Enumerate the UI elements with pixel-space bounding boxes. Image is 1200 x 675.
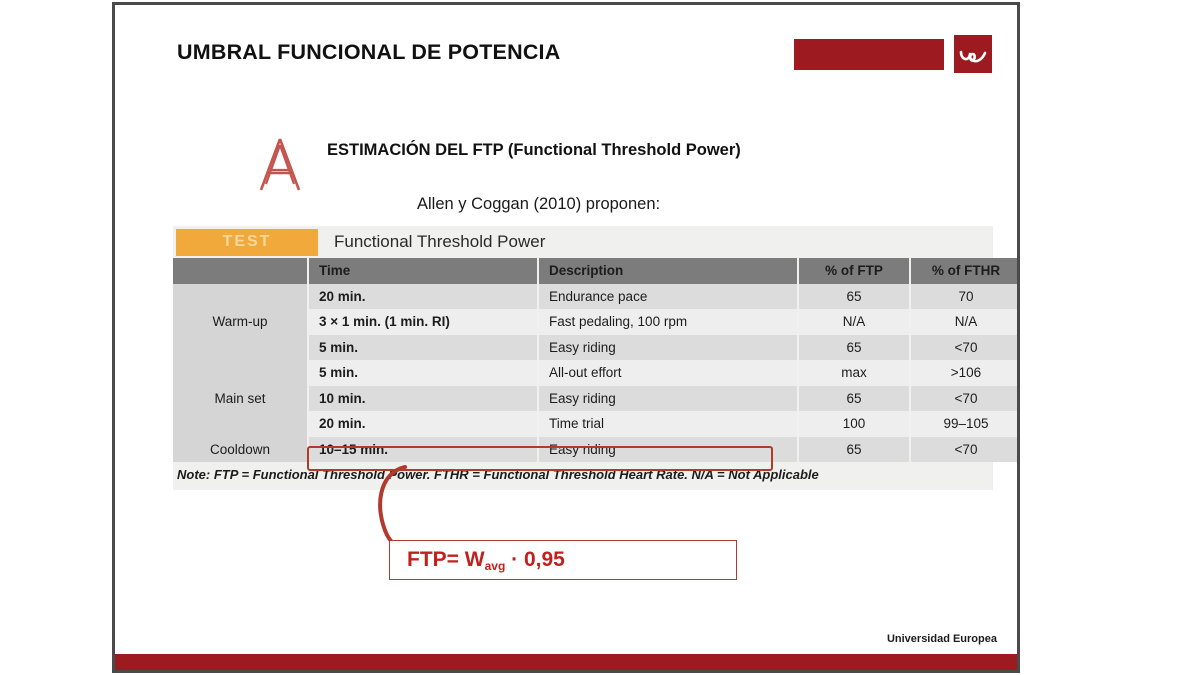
cell-pct-ftp: 100 — [798, 411, 910, 437]
cell-pct-ftp: 65 — [798, 386, 910, 412]
cell-pct-fthr: N/A — [910, 309, 1017, 335]
cell-pct-ftp: 65 — [798, 284, 910, 310]
cell-description: Easy riding — [538, 437, 798, 463]
cell-description: Time trial — [538, 411, 798, 437]
test-badge: TEST — [176, 229, 318, 256]
brand-logo — [794, 39, 992, 73]
table-row: Cooldown 10–15 min. Easy riding 65 <70 — [173, 437, 1017, 463]
page-title: UMBRAL FUNCIONAL DE POTENCIA — [177, 40, 560, 65]
cell-pct-fthr: 99–105 — [910, 411, 1017, 437]
footer-brand: Universidad Europea — [887, 633, 997, 645]
cell-time: 20 min. — [308, 284, 538, 310]
cell-pct-ftp: N/A — [798, 309, 910, 335]
table-note-lead: Note: — [177, 467, 210, 482]
cell-phase: Warm-up — [173, 284, 308, 361]
column-header-description: Description — [538, 258, 798, 284]
cell-description: Fast pedaling, 100 rpm — [538, 309, 798, 335]
cell-time: 10 min. — [308, 386, 538, 412]
cell-pct-fthr: <70 — [910, 437, 1017, 463]
cell-description: Endurance pace — [538, 284, 798, 310]
subheading: ESTIMACIÓN DEL FTP (Functional Threshold… — [327, 141, 741, 160]
column-header-pct-fthr: % of FTHR — [910, 258, 1017, 284]
table-body: Warm-up 20 min. Endurance pace 65 70 3 ×… — [173, 284, 1017, 463]
cell-pct-ftp: max — [798, 360, 910, 386]
test-strip: TEST Functional Threshold Power — [173, 226, 993, 258]
cell-pct-fthr: 70 — [910, 284, 1017, 310]
footer-bar — [115, 654, 1017, 670]
cell-description: Easy riding — [538, 335, 798, 361]
cell-phase: Main set — [173, 360, 308, 437]
table-row: Warm-up 20 min. Endurance pace 65 70 — [173, 284, 1017, 310]
formula-box: FTP= Wavg · 0,95 — [389, 540, 737, 580]
slide-root: UMBRAL FUNCIONAL DE POTENCIA ESTIMACIÓN … — [0, 0, 1200, 675]
formula-text: FTP= Wavg · 0,95 — [407, 548, 565, 572]
cell-pct-ftp: 65 — [798, 437, 910, 463]
table-note: Note: FTP = Functional Threshold Power. … — [173, 462, 993, 490]
slide-content: UMBRAL FUNCIONAL DE POTENCIA ESTIMACIÓN … — [115, 5, 1017, 670]
ue-monogram-icon — [954, 35, 992, 73]
table-header-row: Time Description % of FTP % of FTHR — [173, 258, 1017, 284]
column-header-phase — [173, 258, 308, 284]
cell-pct-fthr: >106 — [910, 360, 1017, 386]
cell-description: All-out effort — [538, 360, 798, 386]
column-header-pct-ftp: % of FTP — [798, 258, 910, 284]
cell-phase: Cooldown — [173, 437, 308, 463]
table-row: Main set 5 min. All-out effort max >106 — [173, 360, 1017, 386]
cell-time: 5 min. — [308, 335, 538, 361]
formula-prefix: FTP= W — [407, 548, 485, 571]
column-header-time: Time — [308, 258, 538, 284]
table-header: Time Description % of FTP % of FTHR — [173, 258, 1017, 284]
cell-pct-ftp: 65 — [798, 335, 910, 361]
cell-description: Easy riding — [538, 386, 798, 412]
cell-pct-fthr: <70 — [910, 386, 1017, 412]
logo-bar — [794, 39, 944, 70]
cell-time: 3 × 1 min. (1 min. RI) — [308, 309, 538, 335]
cell-time: 20 min. — [308, 411, 538, 437]
slide-frame: UMBRAL FUNCIONAL DE POTENCIA ESTIMACIÓN … — [112, 2, 1020, 673]
ftp-protocol-table: TEST Functional Threshold Power Time Des… — [173, 226, 993, 490]
cell-pct-fthr: <70 — [910, 335, 1017, 361]
citation-text: Allen y Coggan (2010) proponen: — [417, 195, 660, 214]
protocol-table: Time Description % of FTP % of FTHR Warm… — [173, 258, 1017, 462]
formula-subscript: avg — [485, 559, 506, 573]
cell-time: 5 min. — [308, 360, 538, 386]
formula-suffix: · 0,95 — [505, 548, 565, 571]
test-name: Functional Threshold Power — [334, 232, 545, 252]
section-letter-a-icon — [249, 133, 311, 195]
